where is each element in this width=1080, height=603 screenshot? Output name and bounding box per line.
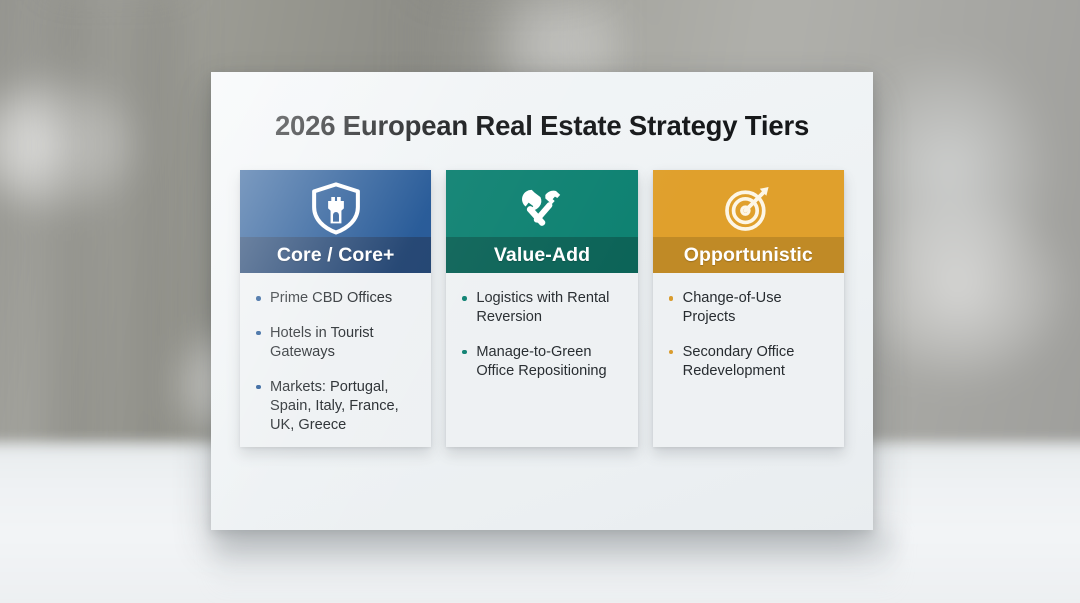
tier-card-value-add[interactable]: Value-Add Logistics with Rental Reversio…	[446, 170, 637, 447]
list-item: Manage-to-Green Office Repositioning	[459, 343, 624, 381]
background-pillar-left	[55, 0, 175, 480]
tier-card-core[interactable]: Core / Core+ Prime CBD Offices Hotels in…	[240, 170, 431, 447]
bullet-dot-icon	[256, 296, 261, 301]
list-item: Prime CBD Offices	[253, 289, 418, 308]
bullet-text: Change-of-Use Projects	[683, 290, 782, 325]
bullet-text: Logistics with Rental Reversion	[476, 290, 609, 325]
tier-bullet-list-core: Prime CBD Offices Hotels in Tourist Gate…	[253, 289, 418, 435]
bullet-dot-icon	[256, 385, 261, 390]
list-item: Hotels in Tourist Gateways	[253, 324, 418, 362]
strategy-tier-card-row: Core / Core+ Prime CBD Offices Hotels in…	[240, 170, 844, 447]
bullet-text: Manage-to-Green Office Repositioning	[476, 344, 606, 379]
bullet-dot-icon	[462, 350, 467, 355]
bullet-text: Hotels in Tourist Gateways	[270, 325, 374, 360]
bullet-dot-icon	[669, 350, 674, 355]
tier-card-label-core: Core / Core+	[240, 237, 431, 273]
tier-bullet-list-value-add: Logistics with Rental Reversion Manage-t…	[459, 289, 624, 381]
list-item: Markets: Portugal, Spain, Italy, France,…	[253, 378, 418, 435]
list-item: Secondary Office Redevelopment	[666, 343, 831, 381]
presentation-scene: 2026 European Real Estate Strategy Tiers…	[0, 0, 1080, 603]
page-title: 2026 European Real Estate Strategy Tiers	[211, 110, 873, 142]
tier-card-label-value-add: Value-Add	[446, 237, 637, 273]
tier-card-header-opportunistic: Opportunistic	[653, 170, 844, 273]
bullet-dot-icon	[462, 296, 467, 301]
bullet-dot-icon	[256, 331, 261, 336]
bullet-dot-icon	[669, 296, 674, 301]
tier-card-header-value-add: Value-Add	[446, 170, 637, 273]
tier-card-opportunistic[interactable]: Opportunistic Change-of-Use Projects Sec…	[653, 170, 844, 447]
tier-bullet-list-opportunistic: Change-of-Use Projects Secondary Office …	[666, 289, 831, 381]
bullet-text: Prime CBD Offices	[270, 290, 392, 306]
tier-card-body-value-add: Logistics with Rental Reversion Manage-t…	[446, 273, 637, 447]
tier-card-header-core: Core / Core+	[240, 170, 431, 273]
tier-card-body-opportunistic: Change-of-Use Projects Secondary Office …	[653, 273, 844, 447]
slide-reflection	[215, 532, 895, 594]
tier-card-label-opportunistic: Opportunistic	[653, 237, 844, 273]
wrench-hammer-icon	[514, 170, 570, 245]
tier-card-body-core: Prime CBD Offices Hotels in Tourist Gate…	[240, 273, 431, 447]
list-item: Logistics with Rental Reversion	[459, 289, 624, 327]
slide-board: 2026 European Real Estate Strategy Tiers…	[211, 72, 873, 530]
bullet-text: Markets: Portugal, Spain, Italy, France,…	[270, 379, 399, 433]
list-item: Change-of-Use Projects	[666, 289, 831, 327]
shield-castle-icon	[308, 170, 364, 245]
target-arrow-icon	[720, 170, 776, 245]
bullet-text: Secondary Office Redevelopment	[683, 344, 795, 379]
